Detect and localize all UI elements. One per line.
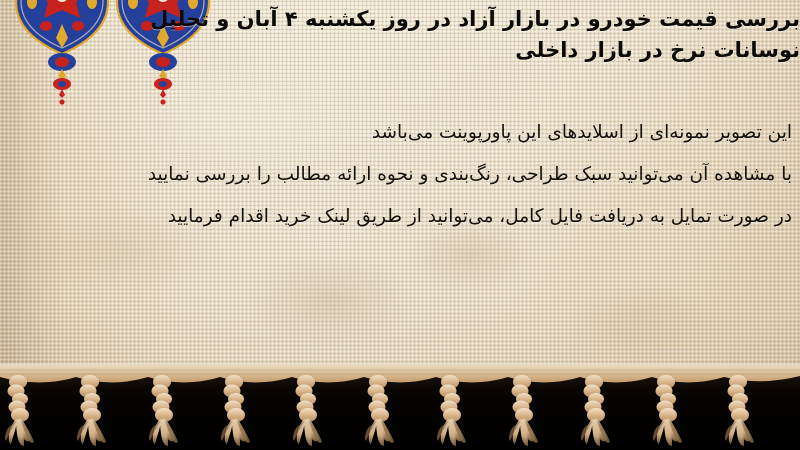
carpet-fringe [0,364,800,450]
slide-body-line-2: با مشاهده آن می‌توانید سبک طراحی، رنگ‌بن… [6,154,792,196]
fringe-selvedge-rail [0,364,800,383]
slide-canvas: بررسی قیمت خودرو در بازار آزاد در روز یک… [0,0,800,450]
slide-title-line-1: بررسی قیمت خودرو در بازار آزاد در روز یک… [0,4,800,35]
slide-body-line-1: این تصویر نمونه‌ای از اسلایدهای این پاور… [6,112,792,154]
slide-title: بررسی قیمت خودرو در بازار آزاد در روز یک… [0,4,800,66]
slide-body-line-3: در صورت تمایل به دریافت فایل کامل، می‌تو… [6,196,792,238]
fringe-tassels [5,375,754,446]
slide-body: این تصویر نمونه‌ای از اسلایدهای این پاور… [6,112,792,238]
slide-title-line-2: نوسانات نرخ در بازار داخلی [0,35,800,66]
